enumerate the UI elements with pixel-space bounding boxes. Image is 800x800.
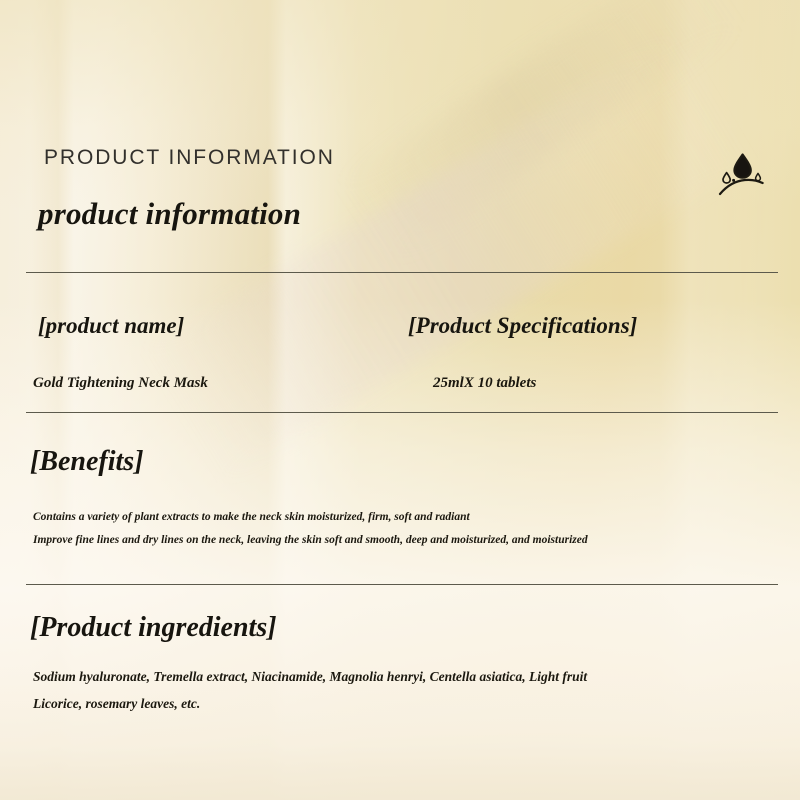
section-kicker: PRODUCT INFORMATION — [44, 146, 335, 170]
product-name-value: Gold Tightening Neck Mask — [33, 375, 208, 392]
divider-2 — [26, 412, 778, 413]
product-information-card: PRODUCT INFORMATION product information … — [0, 0, 800, 800]
product-name-label: [product name] — [38, 313, 184, 339]
ingredients-heading: [Product ingredients] — [30, 612, 277, 644]
ingredients-line: Licorice, rosemary leaves, etc. — [33, 696, 200, 712]
divider-1 — [26, 272, 778, 273]
benefits-line: Contains a variety of plant extracts to … — [33, 511, 470, 523]
divider-3 — [26, 584, 778, 585]
water-droplet-icon — [714, 148, 770, 198]
benefits-line: Improve fine lines and dry lines on the … — [33, 534, 588, 546]
benefits-heading: [Benefits] — [30, 446, 144, 478]
page-title: product information — [38, 196, 301, 232]
product-specifications-label: [Product Specifications] — [408, 313, 637, 339]
ingredients-line: Sodium hyaluronate, Tremella extract, Ni… — [33, 669, 587, 685]
product-specifications-value: 25mlX 10 tablets — [433, 375, 536, 392]
